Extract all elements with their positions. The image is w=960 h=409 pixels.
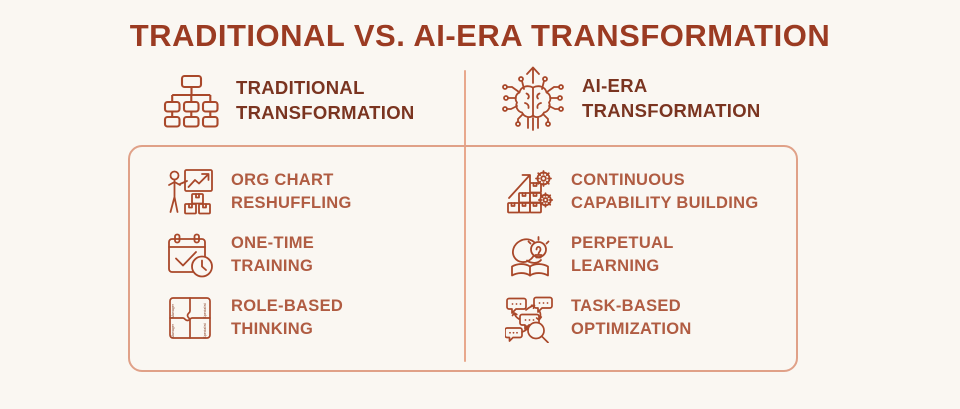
presenter-growth-chart-icon (165, 167, 215, 217)
ai-brain-circuit-icon (498, 62, 568, 136)
list-item-label: ROLE-BASED THINKING (231, 295, 343, 339)
svg-text:Manager: Manager (171, 323, 175, 338)
list-item-label: TASK-BASED OPTIMIZATION (571, 295, 692, 339)
item-list-traditional: ORG CHART RESHUFFLING ONE-TIME TRAINING (165, 160, 495, 349)
list-item: CONTINUOUS CAPABILITY BUILDING (505, 160, 835, 223)
list-item: PERPETUAL LEARNING (505, 223, 835, 286)
puzzle-roles-icon: Manager Specialist Manager Specialist (165, 293, 215, 343)
building-blocks-gears-arrow-icon (505, 167, 555, 217)
speech-bubbles-magnifier-icon (505, 293, 555, 343)
list-item-label: PERPETUAL LEARNING (571, 232, 674, 276)
infinity-lightbulb-book-icon (505, 230, 555, 280)
svg-text:Manager: Manager (171, 303, 175, 318)
column-header-label: TRADITIONAL TRANSFORMATION (236, 76, 415, 125)
column-header-ai-era: AI-ERA TRANSFORMATION (498, 62, 761, 136)
list-item: Manager Specialist Manager Specialist RO… (165, 286, 495, 349)
list-item-label: CONTINUOUS CAPABILITY BUILDING (571, 169, 759, 213)
item-list-ai-era: CONTINUOUS CAPABILITY BUILDING PERPETUAL… (505, 160, 835, 349)
column-header-traditional: TRADITIONAL TRANSFORMATION (160, 70, 415, 132)
list-item: ORG CHART RESHUFFLING (165, 160, 495, 223)
column-header-label: AI-ERA TRANSFORMATION (582, 74, 761, 123)
list-item-label: ORG CHART RESHUFFLING (231, 169, 352, 213)
list-item: TASK-BASED OPTIMIZATION (505, 286, 835, 349)
page-title: TRADITIONAL VS. AI-ERA TRANSFORMATION (0, 18, 960, 54)
org-chart-icon (160, 70, 222, 132)
calendar-check-clock-icon (165, 230, 215, 280)
list-item-label: ONE-TIME TRAINING (231, 232, 314, 276)
svg-text:Specialist: Specialist (203, 323, 207, 338)
list-item: ONE-TIME TRAINING (165, 223, 495, 286)
svg-text:Specialist: Specialist (203, 303, 207, 318)
infographic-canvas: TRADITIONAL VS. AI-ERA TRANSFORMATION TR… (0, 0, 960, 409)
